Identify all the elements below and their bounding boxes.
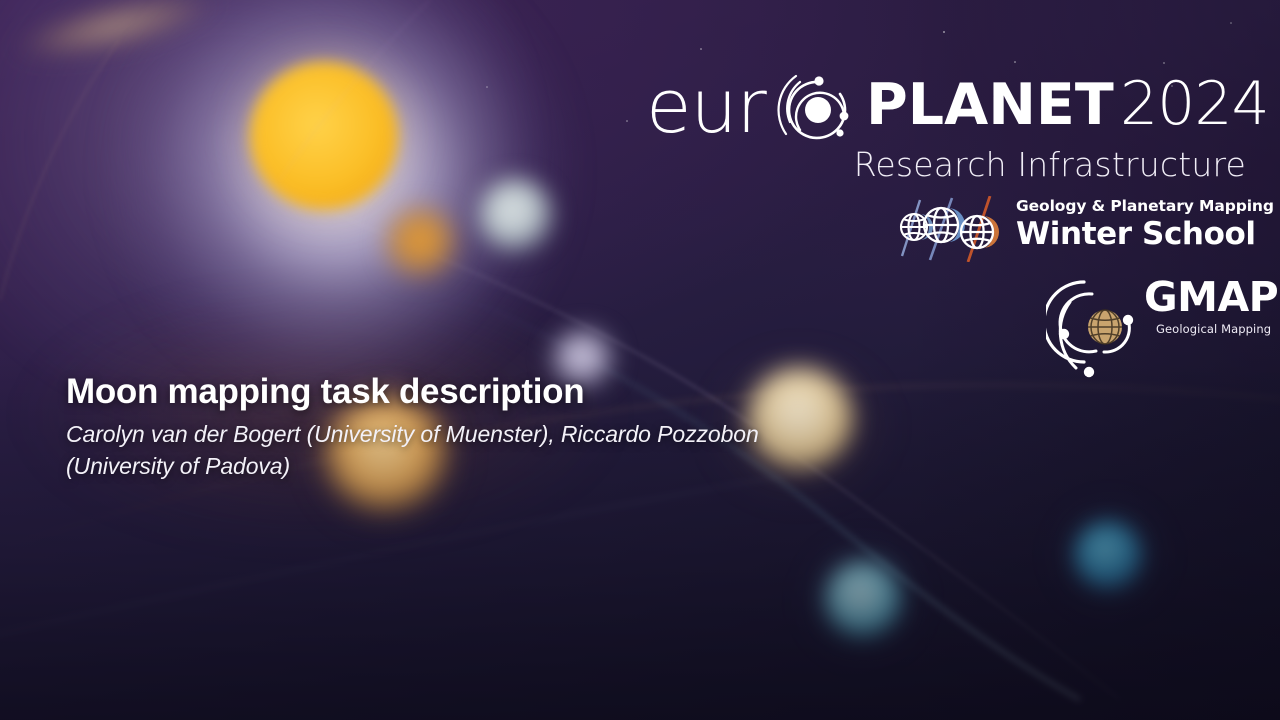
slide-authors-line2: (University of Padova) bbox=[66, 450, 896, 482]
planet-neptune-halo bbox=[1040, 486, 1180, 626]
planet-earth bbox=[478, 178, 554, 254]
planet-uranus-halo bbox=[788, 524, 938, 674]
europlanet-subtitle: Research Infrastructure bbox=[854, 146, 1246, 184]
sun-icon bbox=[250, 62, 398, 210]
europlanet-orbit-icon bbox=[770, 60, 866, 156]
planet-mercury bbox=[388, 210, 454, 276]
gmap-title: GMAP bbox=[1144, 274, 1278, 320]
gmap-logo: GMAP Geological Mapping bbox=[1046, 272, 1258, 380]
star-speck bbox=[486, 86, 488, 88]
gmap-subtitle: Geological Mapping bbox=[1156, 322, 1271, 337]
star-speck bbox=[943, 31, 945, 33]
star-speck bbox=[1230, 22, 1232, 24]
europlanet-logo: eur PLANET 2024 Research Infrastructure bbox=[646, 72, 1246, 190]
winter-school-line1: Geology & Planetary Mapping bbox=[1016, 196, 1274, 216]
star-speck bbox=[700, 48, 702, 50]
planet-uranus bbox=[826, 562, 900, 636]
planet-saturn-ring bbox=[0, 0, 233, 77]
slide-text-block: Moon mapping task description Carolyn va… bbox=[66, 372, 896, 482]
winter-school-logo: Geology & Planetary Mapping Winter Schoo… bbox=[890, 196, 1250, 262]
sun-inner-glow bbox=[200, 10, 450, 260]
star-speck bbox=[1163, 62, 1165, 64]
planet-neptune bbox=[1075, 522, 1141, 588]
winter-school-line2: Winter School bbox=[1016, 216, 1274, 252]
europlanet-logo-row: eur PLANET 2024 bbox=[646, 72, 1246, 146]
europlanet-year-text: 2024 bbox=[1120, 72, 1269, 136]
winter-school-text: Geology & Planetary Mapping Winter Schoo… bbox=[1016, 196, 1274, 252]
star-speck bbox=[626, 120, 628, 122]
star-speck bbox=[1014, 61, 1016, 63]
presentation-slide: eur PLANET 2024 Research Infrastructure bbox=[0, 0, 1280, 720]
page-title: Moon mapping task description bbox=[66, 372, 896, 412]
three-globes-icon bbox=[890, 196, 1010, 262]
slide-authors-line1: Carolyn van der Bogert (University of Mu… bbox=[66, 418, 896, 450]
europlanet-euro-text: eur bbox=[646, 70, 766, 144]
europlanet-planet-text: PLANET bbox=[866, 74, 1114, 136]
